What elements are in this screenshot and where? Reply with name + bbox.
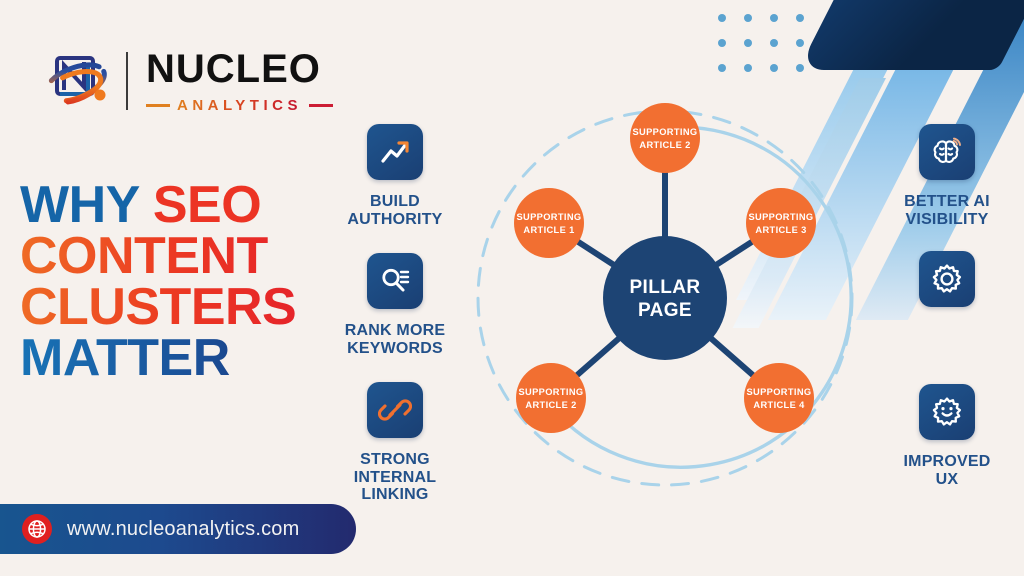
feature-label: STRONG INTERNAL LINKING — [354, 451, 436, 505]
feature-label: IMPROVED UX — [904, 453, 991, 489]
brand-name: NUCLEO — [146, 49, 333, 89]
left-feature-list: BUILD AUTHORITY RANK MORE KEYWORDS — [336, 124, 454, 504]
hub-label-line2: PAGE — [638, 300, 692, 321]
grid-dot — [744, 14, 752, 22]
node-label-line2: ARTICLE 2 — [639, 140, 690, 150]
grid-dot — [744, 64, 752, 72]
pillar-page-hub — [603, 236, 727, 360]
grid-dot — [796, 14, 804, 22]
node-label-line1: SUPPORTING — [633, 127, 698, 137]
brain-signal-icon — [919, 124, 975, 180]
feature-improved-ux[interactable]: IMPROVED UX — [886, 384, 1008, 489]
content-cluster-diagram: PILLAR PAGE SUPPORTING ARTICLE 2 SUPPORT… — [455, 88, 875, 508]
hub-label-line1: PILLAR — [629, 277, 700, 298]
grid-dot — [770, 39, 778, 47]
headline-line-2: CONTENT — [20, 231, 350, 282]
node-label-line2: ARTICLE 2 — [525, 400, 576, 410]
grid-dot — [718, 14, 726, 22]
brand-logo: NUCLEO ANALYTICS — [38, 46, 333, 116]
supporting-node-lower-right — [744, 363, 814, 433]
headline-line-4: MATTER — [20, 333, 350, 384]
feature-better-ai-visibility[interactable]: BETTER AI VISIBILITY — [886, 124, 1008, 229]
grid-dot — [796, 39, 804, 47]
headline-line-1: WHY SEO — [20, 180, 350, 231]
supporting-node-upper-left — [514, 188, 584, 258]
logo-rule-left — [146, 104, 170, 107]
node-label-line1: SUPPORTING — [517, 212, 582, 222]
supporting-node-lower-left — [516, 363, 586, 433]
node-label-line1: SUPPORTING — [747, 387, 812, 397]
feature-strong-internal-linking[interactable]: STRONG INTERNAL LINKING — [336, 382, 454, 505]
node-label-line1: SUPPORTING — [519, 387, 584, 397]
feature-rank-more-keywords[interactable]: RANK MORE KEYWORDS — [336, 253, 454, 358]
smiley-gear-icon — [919, 384, 975, 440]
node-label-line1: SUPPORTING — [749, 212, 814, 222]
node-label-line2: ARTICLE 1 — [523, 225, 574, 235]
grid-dot — [796, 64, 804, 72]
supporting-node-upper-right — [746, 188, 816, 258]
grid-dot — [718, 39, 726, 47]
logo-divider — [126, 52, 128, 110]
ribbon-stripe-dark — [798, 0, 1024, 70]
magnifier-list-icon — [367, 253, 423, 309]
gear-icon — [919, 251, 975, 307]
headline-why: WHY — [20, 176, 153, 234]
logo-rule-right — [309, 104, 333, 107]
supporting-node-top — [630, 103, 700, 173]
feature-build-authority[interactable]: BUILD AUTHORITY — [336, 124, 454, 229]
feature-label: BUILD AUTHORITY — [347, 193, 442, 229]
node-label-line2: ARTICLE 3 — [755, 225, 806, 235]
website-url-text: www.nucleoanalytics.com — [67, 518, 299, 541]
headline-line-3: CLUSTERS — [20, 282, 350, 333]
globe-icon — [22, 514, 52, 544]
feature-gear[interactable] — [886, 251, 1008, 320]
feature-label: RANK MORE KEYWORDS — [345, 322, 445, 358]
grid-dot — [770, 64, 778, 72]
nucleo-n-orbit-logo-icon — [38, 46, 112, 116]
grid-dot — [744, 39, 752, 47]
grid-dot — [718, 64, 726, 72]
chain-link-icon — [367, 382, 423, 438]
page-title: WHY SEO CONTENT CLUSTERS MATTER — [20, 180, 350, 384]
right-feature-list: BETTER AI VISIBILITY IM — [886, 124, 1008, 489]
grid-dot — [770, 14, 778, 22]
brand-tagline: ANALYTICS — [177, 97, 302, 114]
feature-label: BETTER AI VISIBILITY — [904, 193, 990, 229]
dot-grid-decoration — [718, 14, 804, 72]
trending-up-arrow-icon — [367, 124, 423, 180]
node-label-line2: ARTICLE 4 — [753, 400, 805, 410]
headline-seo: SEO — [153, 176, 261, 234]
website-url-bar[interactable]: www.nucleoanalytics.com — [0, 504, 356, 554]
